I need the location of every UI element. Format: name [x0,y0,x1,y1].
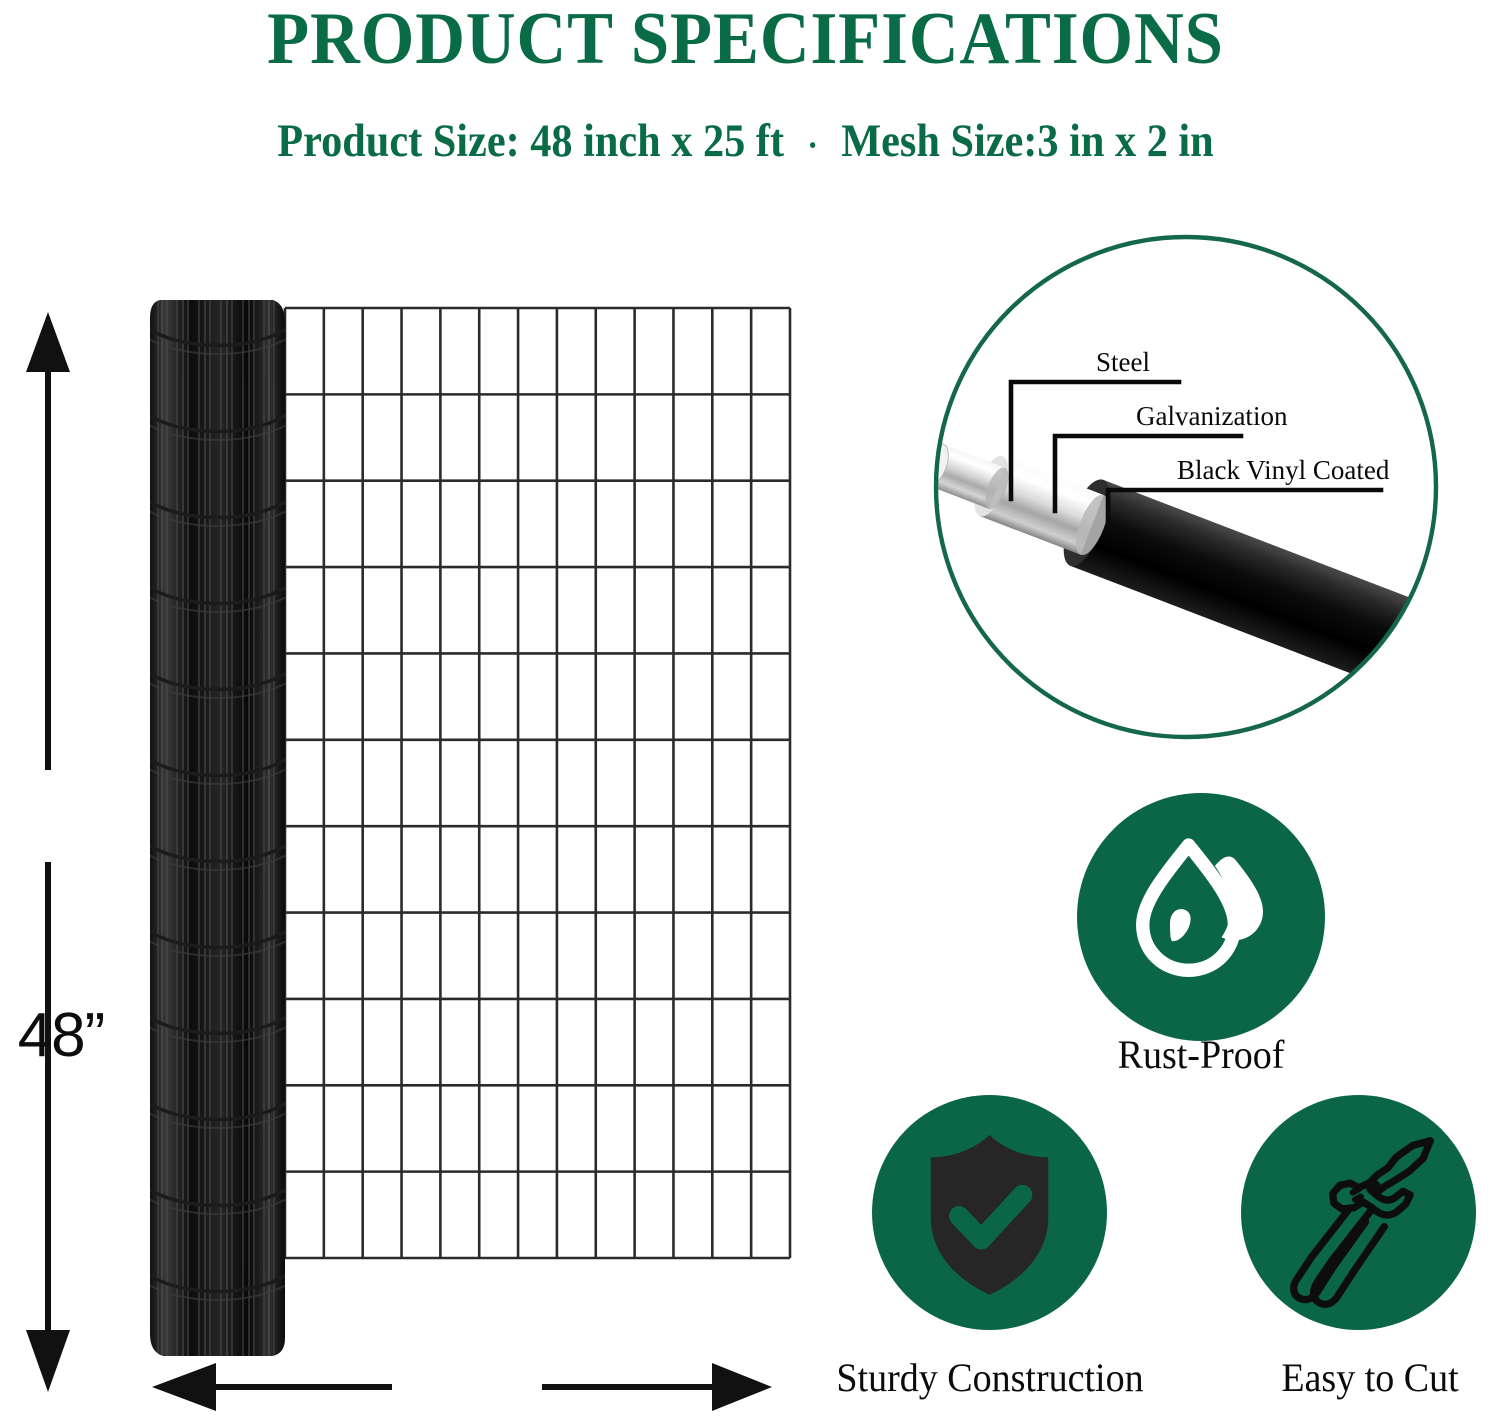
height-arrow [26,312,70,1392]
pliers-icon [1241,1095,1476,1330]
shield-check-icon [872,1095,1107,1330]
dimension-arrows [0,230,830,1428]
feature-label-easy-to-cut: Easy to Cut [1275,1358,1465,1398]
water-drop-icon [1077,793,1325,1041]
callout-svg [930,228,1450,748]
callout-label-galvanization: Galvanization [1136,403,1287,430]
page-title: PRODUCT SPECIFICATIONS [52,2,1439,76]
feature-label-rust-proof: Rust-Proof [1030,1035,1372,1075]
specs-subtitle: Product Size: 48 inch x 25 ft · Mesh Siz… [75,118,1417,165]
product-size-label: Product Size: 48 inch x 25 ft [277,115,784,167]
feature-badge-sturdy-construction [872,1095,1107,1330]
callout-label-vinyl: Black Vinyl Coated [1177,457,1389,484]
feature-badge-rust-proof [1077,793,1325,1041]
wire-construction-callout: Steel Galvanization Black Vinyl Coated [930,228,1450,748]
callout-label-steel: Steel [1096,349,1150,376]
vinyl-layer [1054,474,1450,720]
product-illustration: 48” 25' [0,230,830,1428]
height-dimension-label: 48” [2,1000,120,1071]
mesh-size-label: Mesh Size:3 in x 2 in [841,115,1213,167]
width-arrow [152,1363,772,1411]
feature-label-sturdy-construction: Sturdy Construction [819,1358,1161,1398]
feature-badge-easy-to-cut [1241,1095,1476,1330]
product-specifications-infographic: PRODUCT SPECIFICATIONS Product Size: 48 … [0,0,1491,1428]
subtitle-separator: · [795,125,831,165]
